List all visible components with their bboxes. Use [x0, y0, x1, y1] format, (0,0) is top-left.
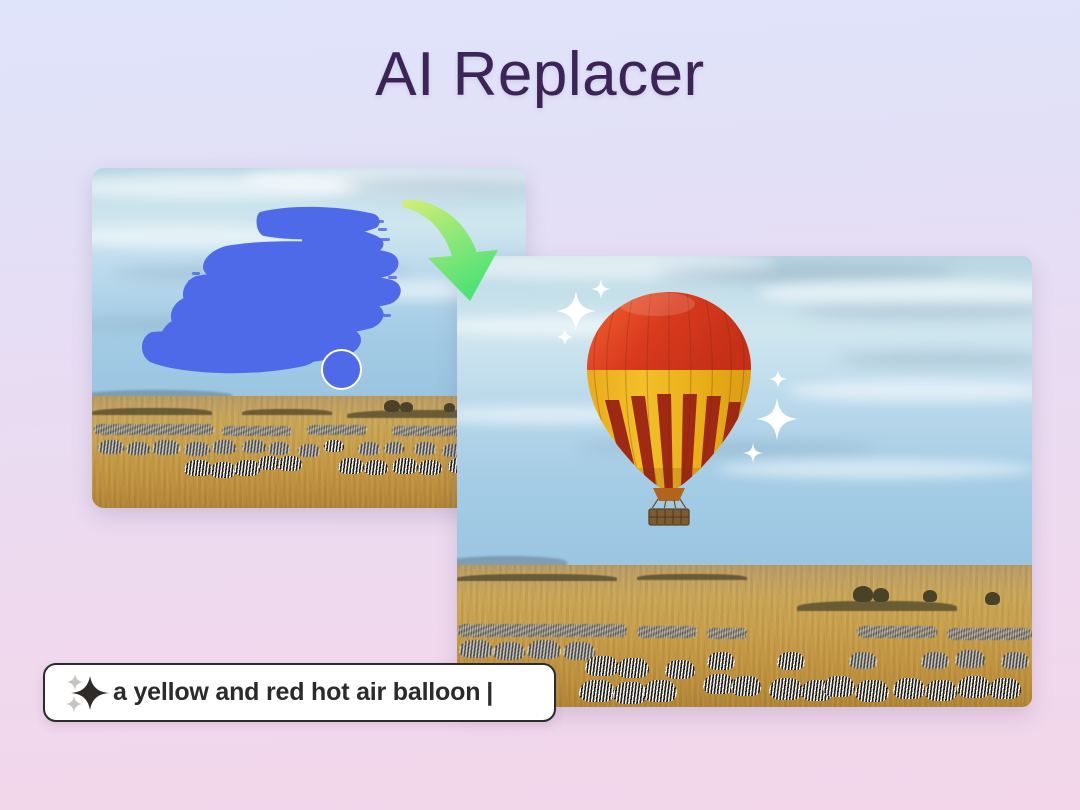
zebra	[234, 460, 260, 476]
hot-air-balloon	[579, 288, 759, 508]
zebra	[777, 652, 805, 670]
acacia-tree	[985, 592, 1000, 605]
generated-image-card[interactable]	[457, 256, 1032, 707]
zebra	[384, 442, 404, 454]
acacia-tree	[853, 586, 873, 602]
zebra	[126, 442, 150, 455]
zebra	[643, 680, 677, 702]
text-cursor: |	[486, 678, 493, 706]
zebra	[493, 642, 525, 660]
zebra	[392, 458, 418, 474]
zebra	[418, 460, 442, 475]
zebra	[298, 444, 320, 457]
acacia-tree	[384, 400, 400, 412]
treeline	[797, 601, 957, 611]
treeline	[457, 574, 617, 581]
zebra-herd	[637, 626, 697, 638]
zebra	[665, 660, 695, 679]
zebra-herd	[857, 626, 937, 638]
sparkle-icon	[556, 328, 574, 346]
acacia-tree	[923, 590, 937, 602]
sparkle-small-top	[67, 674, 83, 690]
zebra	[242, 440, 266, 453]
page-title: AI Replacer	[0, 44, 1080, 106]
zebra	[731, 676, 761, 696]
sparkle-icon	[590, 278, 612, 300]
zebra	[414, 442, 436, 455]
sparkle-icon	[753, 395, 801, 443]
zebra	[855, 680, 889, 702]
sparkle-icon	[63, 672, 113, 714]
zebra-herd	[707, 628, 747, 639]
zebra-herd	[222, 426, 292, 436]
zebra	[585, 656, 619, 676]
zebra	[212, 440, 236, 454]
zebra	[989, 678, 1021, 699]
zebra	[925, 680, 957, 701]
zebra	[184, 442, 210, 456]
zebra	[921, 652, 949, 669]
zebra	[338, 458, 364, 474]
balloon-basket	[579, 506, 759, 536]
zebra	[893, 678, 925, 699]
treeline	[242, 409, 332, 415]
sparkle-small-bottom	[66, 696, 82, 712]
zebra	[703, 674, 735, 694]
zebra	[823, 676, 855, 697]
acacia-tree	[873, 588, 889, 602]
cloud-shadow	[112, 266, 412, 280]
zebra	[98, 440, 124, 454]
zebra-herd	[947, 628, 1032, 640]
prompt-text-value: a yellow and red hot air balloon	[113, 678, 480, 706]
zebra	[955, 650, 985, 668]
zebra	[769, 678, 803, 700]
prompt-input-value[interactable]: a yellow and red hot air balloon|	[113, 678, 493, 707]
zebra	[268, 442, 290, 455]
zebra	[278, 456, 302, 471]
cloud	[717, 460, 1032, 478]
zebra-herd	[94, 424, 214, 435]
acacia-tree	[444, 403, 455, 412]
zebra-herd	[307, 425, 367, 435]
zebra	[617, 658, 649, 678]
transform-arrow	[398, 196, 516, 311]
zebra	[1001, 652, 1029, 669]
zebra	[459, 640, 493, 658]
zebra-herd	[457, 624, 627, 637]
sparkle-icon	[742, 442, 764, 464]
zebra	[579, 680, 615, 702]
sparkle-icon	[768, 369, 788, 389]
treeline	[92, 408, 212, 415]
treeline	[637, 574, 747, 580]
zebra	[849, 652, 877, 669]
zebra	[210, 462, 236, 478]
zebra	[358, 442, 380, 455]
prompt-input-bar[interactable]: a yellow and red hot air balloon|	[43, 663, 556, 722]
zebra	[707, 652, 735, 670]
acacia-tree	[400, 402, 413, 412]
zebra	[258, 456, 280, 470]
zebra	[957, 676, 991, 698]
zebra	[527, 640, 561, 659]
zebra	[324, 440, 344, 452]
ai-replacer-page: AI Replacer	[0, 0, 1080, 810]
zebra	[613, 682, 647, 704]
zebra	[184, 460, 212, 476]
arrow-shape	[402, 200, 498, 301]
zebra	[364, 460, 388, 475]
zebra	[152, 440, 180, 455]
